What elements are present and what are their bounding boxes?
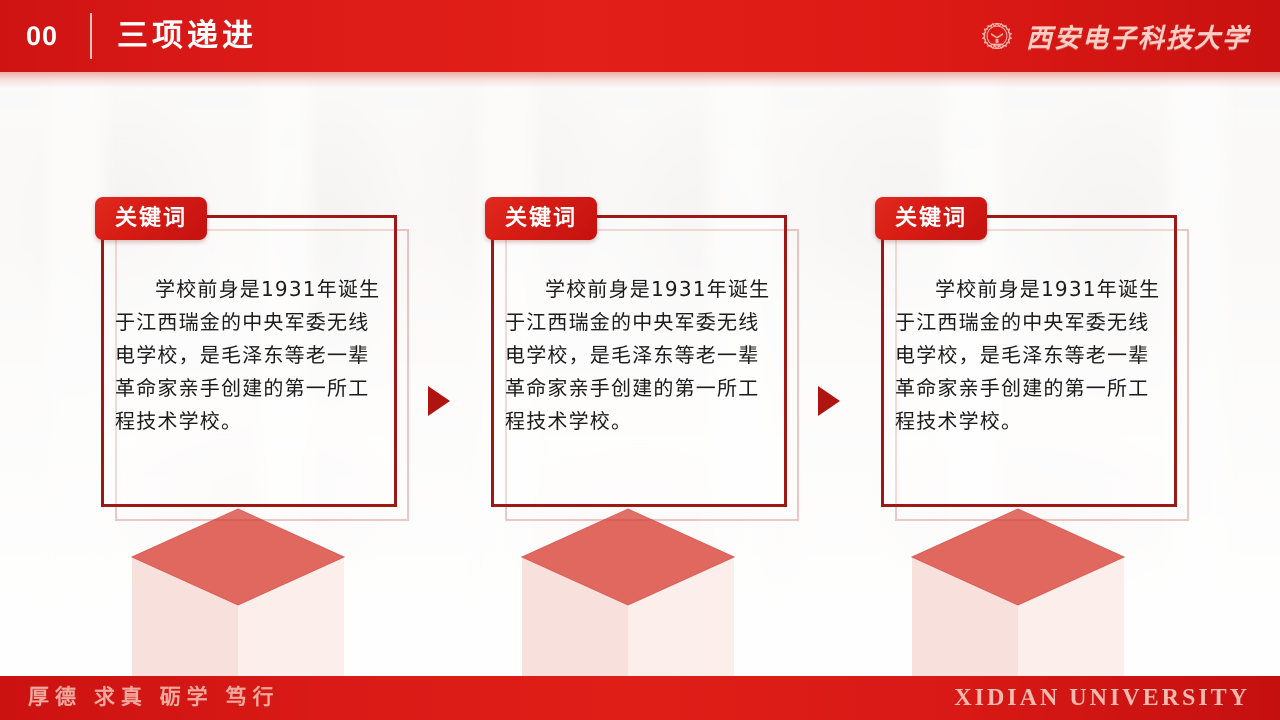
keyword-card-3[interactable]: 关键词 学校前身是1931年诞生于江西瑞金的中央军委无线电学校，是毛泽东等老一辈… bbox=[881, 215, 1177, 507]
header-bar: 00 三项递进 西安电子科技大学 bbox=[0, 0, 1280, 72]
university-logo: 西安电子科技大学 bbox=[978, 12, 1250, 60]
university-motto: 厚德 求真 砺学 笃行 bbox=[28, 684, 280, 712]
card-badge: 关键词 bbox=[485, 197, 597, 240]
card-text: 学校前身是1931年诞生于江西瑞金的中央军委无线电学校，是毛泽东等老一辈革命家亲… bbox=[895, 273, 1163, 438]
triangle-right-icon-2 bbox=[818, 386, 840, 416]
keyword-card-2[interactable]: 关键词 学校前身是1931年诞生于江西瑞金的中央军委无线电学校，是毛泽东等老一辈… bbox=[491, 215, 787, 507]
pedestal-1 bbox=[128, 505, 348, 680]
footer-bar: 厚德 求真 砺学 笃行 XIDIAN UNIVERSITY bbox=[0, 676, 1280, 720]
pedestal-2 bbox=[518, 505, 738, 680]
slide-root: 00 三项递进 西安电子科技大学 bbox=[0, 0, 1280, 720]
card-text: 学校前身是1931年诞生于江西瑞金的中央军委无线电学校，是毛泽东等老一辈革命家亲… bbox=[505, 273, 773, 438]
header-underglow bbox=[0, 72, 1280, 88]
university-seal-icon bbox=[978, 17, 1016, 55]
card-badge: 关键词 bbox=[95, 197, 207, 240]
header-divider bbox=[90, 13, 92, 59]
pedestal-3 bbox=[908, 505, 1128, 680]
page-title: 三项递进 bbox=[117, 13, 257, 59]
university-name-cn: 西安电子科技大学 bbox=[1026, 18, 1250, 55]
card-badge: 关键词 bbox=[875, 197, 987, 240]
triangle-right-icon-1 bbox=[428, 386, 450, 416]
card-text: 学校前身是1931年诞生于江西瑞金的中央军委无线电学校，是毛泽东等老一辈革命家亲… bbox=[115, 273, 383, 438]
isometric-cube-icon bbox=[908, 505, 1128, 680]
keyword-card-1[interactable]: 关键词 学校前身是1931年诞生于江西瑞金的中央军委无线电学校，是毛泽东等老一辈… bbox=[101, 215, 397, 507]
university-name-en: XIDIAN UNIVERSITY bbox=[954, 683, 1250, 713]
isometric-cube-icon bbox=[518, 505, 738, 680]
section-number: 00 bbox=[26, 18, 58, 54]
isometric-cube-icon bbox=[128, 505, 348, 680]
